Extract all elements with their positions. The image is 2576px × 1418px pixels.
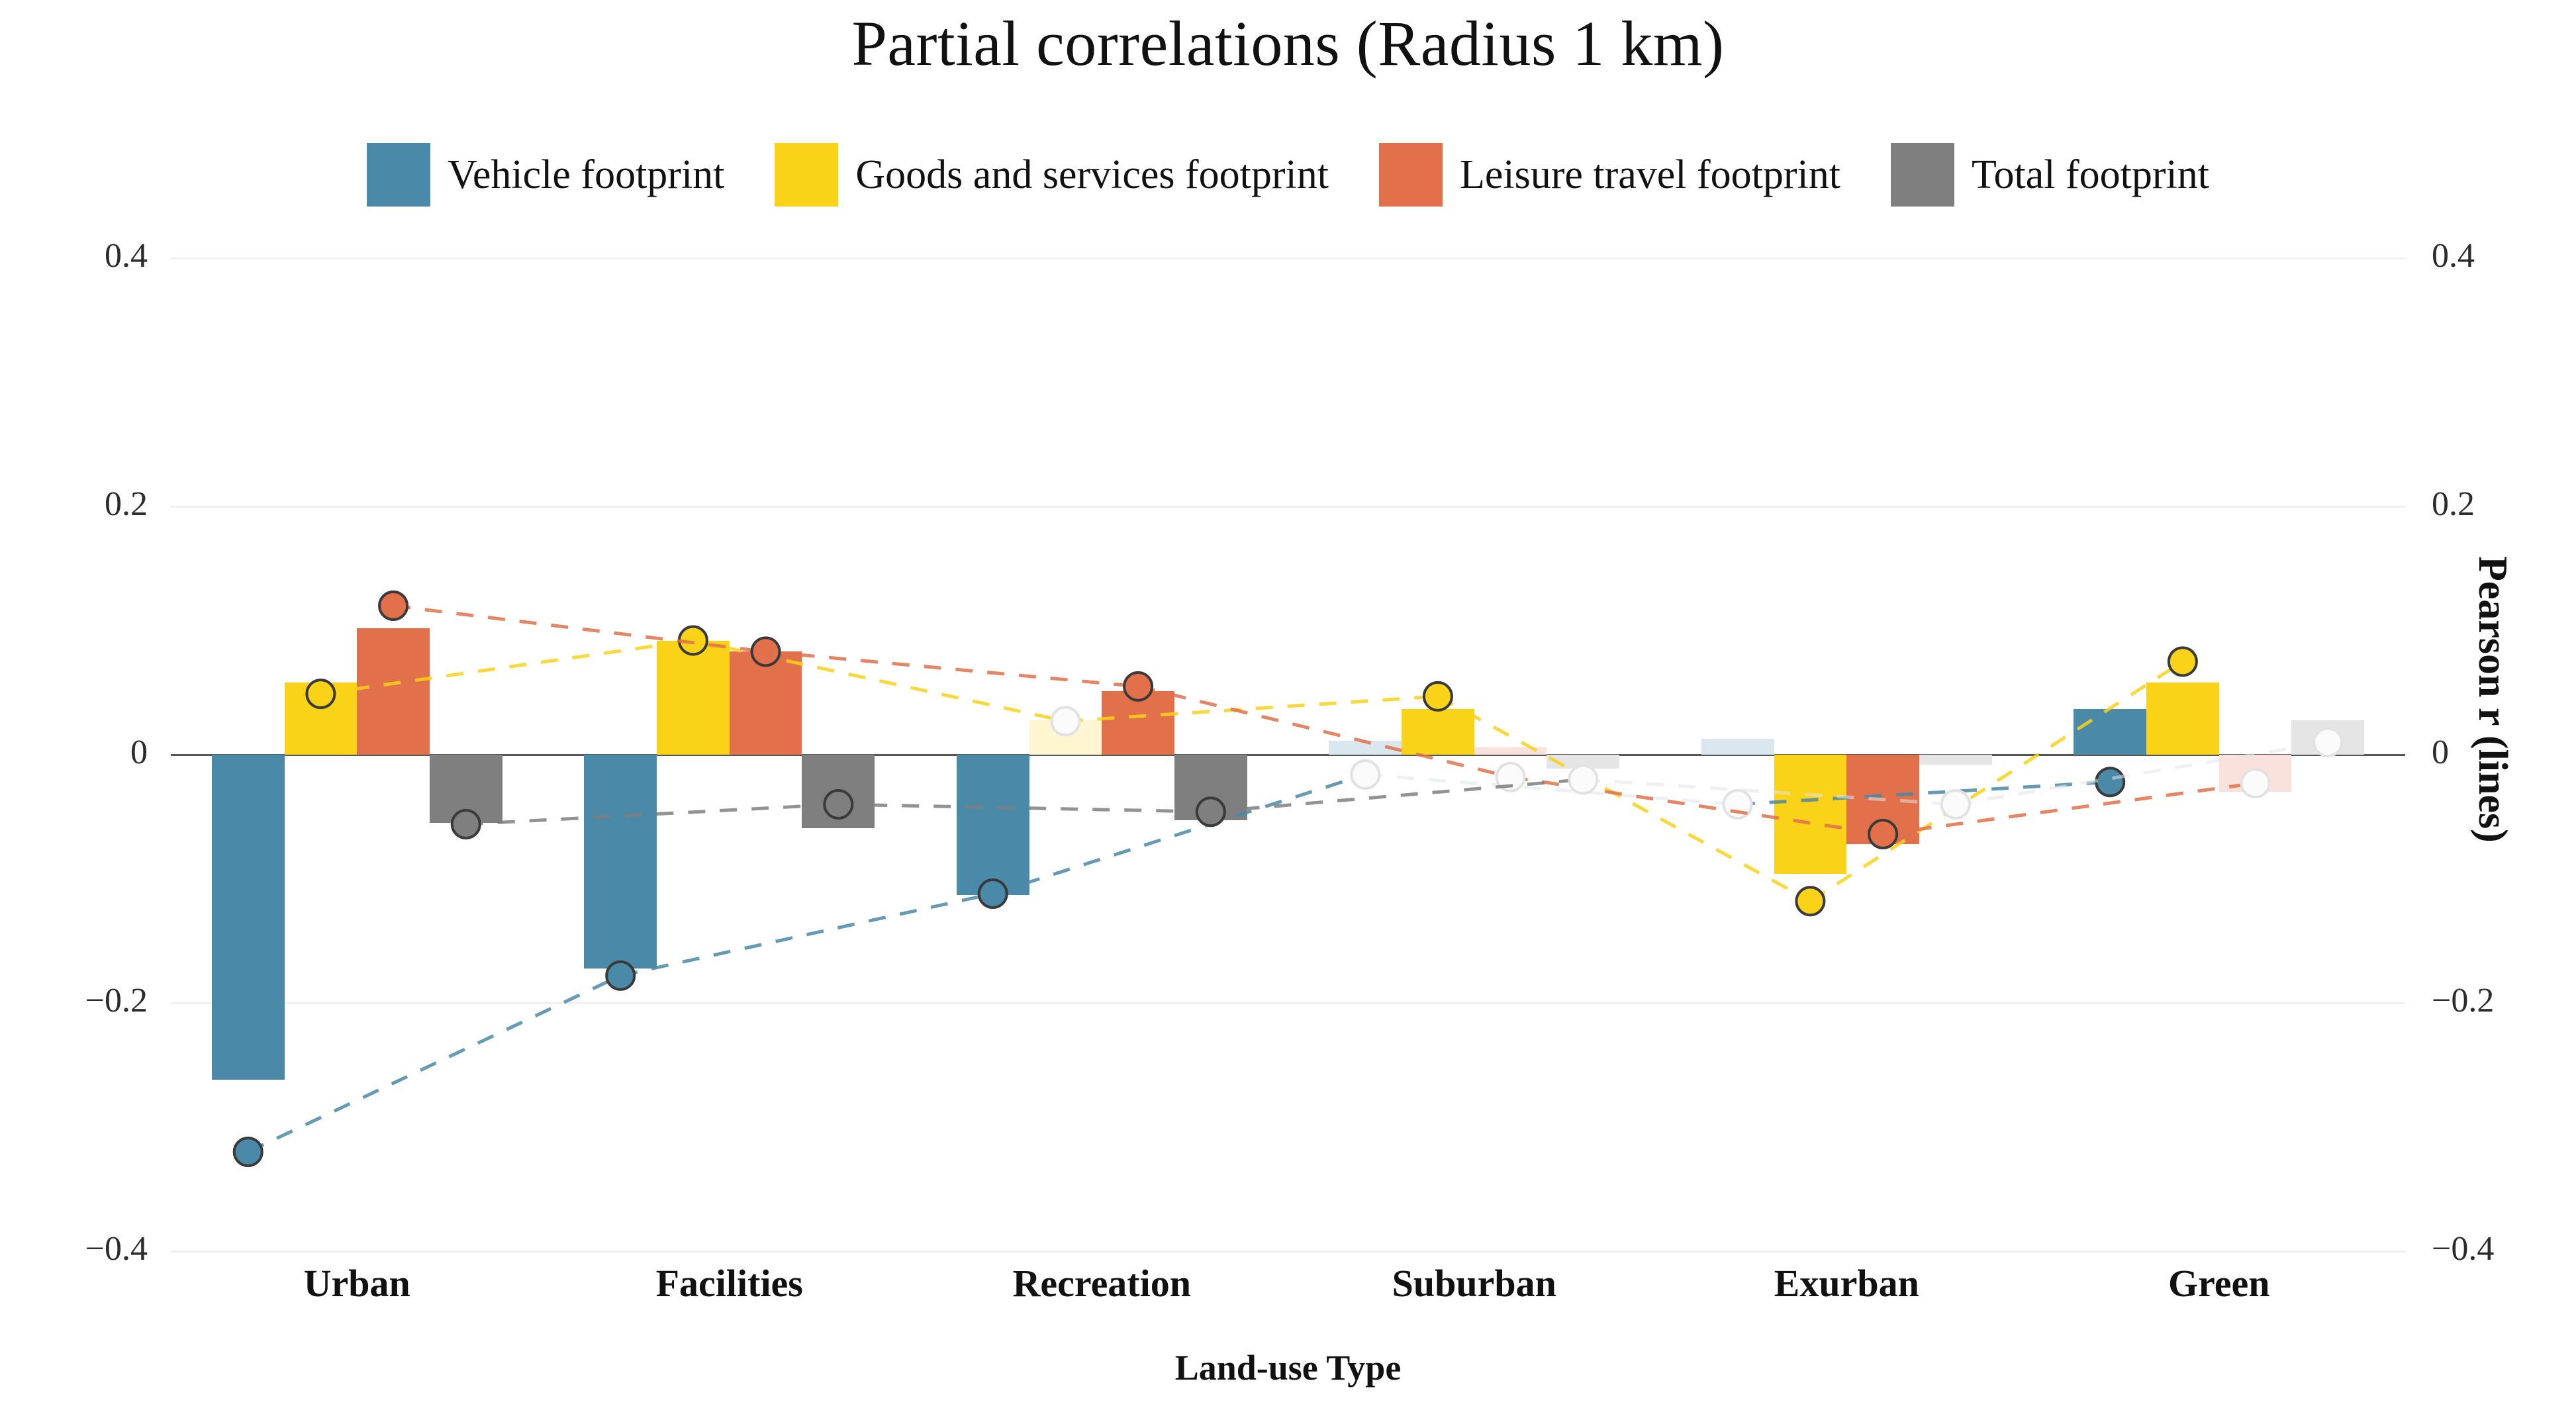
bar[interactable] <box>1701 739 1774 755</box>
x-axis-tick-exurban: Exurban <box>1774 1261 1919 1305</box>
bar[interactable] <box>2291 720 2364 755</box>
y-axis-tick-right: −0.4 <box>2432 1229 2524 1268</box>
bar[interactable] <box>584 755 657 969</box>
gridline <box>171 1251 2405 1253</box>
y-axis-tick-left: 0.2 <box>55 485 148 524</box>
legend-label: Total footprint <box>1972 152 2209 199</box>
y-axis-tick-right: 0.2 <box>2432 485 2524 524</box>
gridline <box>171 258 2405 260</box>
chart-legend: Vehicle footprintGoods and services foot… <box>0 143 2576 207</box>
bar[interactable] <box>2074 709 2146 755</box>
bar[interactable] <box>1846 755 1919 844</box>
y-axis-label-right: Pearson r (lines) <box>2469 556 2516 843</box>
legend-item-3[interactable]: Total footprint <box>1891 143 2209 207</box>
y-axis-tick-right: 0.4 <box>2432 236 2524 275</box>
bar[interactable] <box>1547 755 1619 769</box>
bar[interactable] <box>957 755 1029 895</box>
y-axis-tick-right: 0 <box>2432 733 2524 772</box>
y-axis-tick-left: −0.4 <box>55 1229 148 1268</box>
legend-item-0[interactable]: Vehicle footprint <box>367 143 724 207</box>
chart-page: Partial correlations (Radius 1 km) Vehic… <box>0 0 2576 1418</box>
bar[interactable] <box>1174 755 1247 820</box>
bar[interactable] <box>2146 683 2219 755</box>
bar[interactable] <box>1029 720 1102 755</box>
bar[interactable] <box>2219 755 2292 792</box>
x-axis-tick-facilities: Facilities <box>656 1261 803 1305</box>
bar[interactable] <box>802 755 875 828</box>
bar[interactable] <box>730 651 802 755</box>
x-axis-tick-suburban: Suburban <box>1392 1261 1556 1305</box>
legend-label: Goods and services footprint <box>855 152 1329 199</box>
bar[interactable] <box>285 683 358 755</box>
y-axis-tick-left: 0.4 <box>55 236 148 275</box>
bar[interactable] <box>657 641 730 755</box>
y-axis-tick-right: −0.2 <box>2432 981 2524 1020</box>
y-axis-tick-left: −0.2 <box>55 981 148 1020</box>
legend-item-2[interactable]: Leisure travel footprint <box>1379 143 1840 207</box>
legend-label: Vehicle footprint <box>448 152 724 199</box>
x-axis-tick-green: Green <box>2168 1261 2270 1305</box>
bar[interactable] <box>430 755 502 823</box>
bar[interactable] <box>357 628 430 755</box>
x-axis-label: Land-use Type <box>0 1347 2576 1388</box>
legend-item-1[interactable]: Goods and services footprint <box>775 143 1329 207</box>
legend-label: Leisure travel footprint <box>1460 152 1840 199</box>
legend-swatch-icon <box>775 143 838 207</box>
bar[interactable] <box>1474 747 1547 755</box>
legend-swatch-icon <box>1891 143 1954 207</box>
gridline <box>171 506 2405 508</box>
x-axis-tick-recreation: Recreation <box>1013 1261 1192 1305</box>
bar[interactable] <box>1102 691 1174 755</box>
bar[interactable] <box>1919 755 1992 765</box>
legend-swatch-icon <box>367 143 430 207</box>
bar[interactable] <box>1774 755 1847 874</box>
bar[interactable] <box>1402 709 1474 755</box>
chart-title: Partial correlations (Radius 1 km) <box>0 7 2576 80</box>
zero-line <box>171 754 2405 756</box>
legend-swatch-icon <box>1379 143 1443 207</box>
x-axis-tick-urban: Urban <box>304 1261 410 1305</box>
bar[interactable] <box>212 755 285 1080</box>
y-axis-tick-left: 0 <box>55 733 148 772</box>
plot-area: 0.40.40.20.200−0.2−0.2−0.4−0.4 <box>171 258 2405 1251</box>
bar[interactable] <box>1329 741 1402 755</box>
gridline <box>171 1002 2405 1004</box>
